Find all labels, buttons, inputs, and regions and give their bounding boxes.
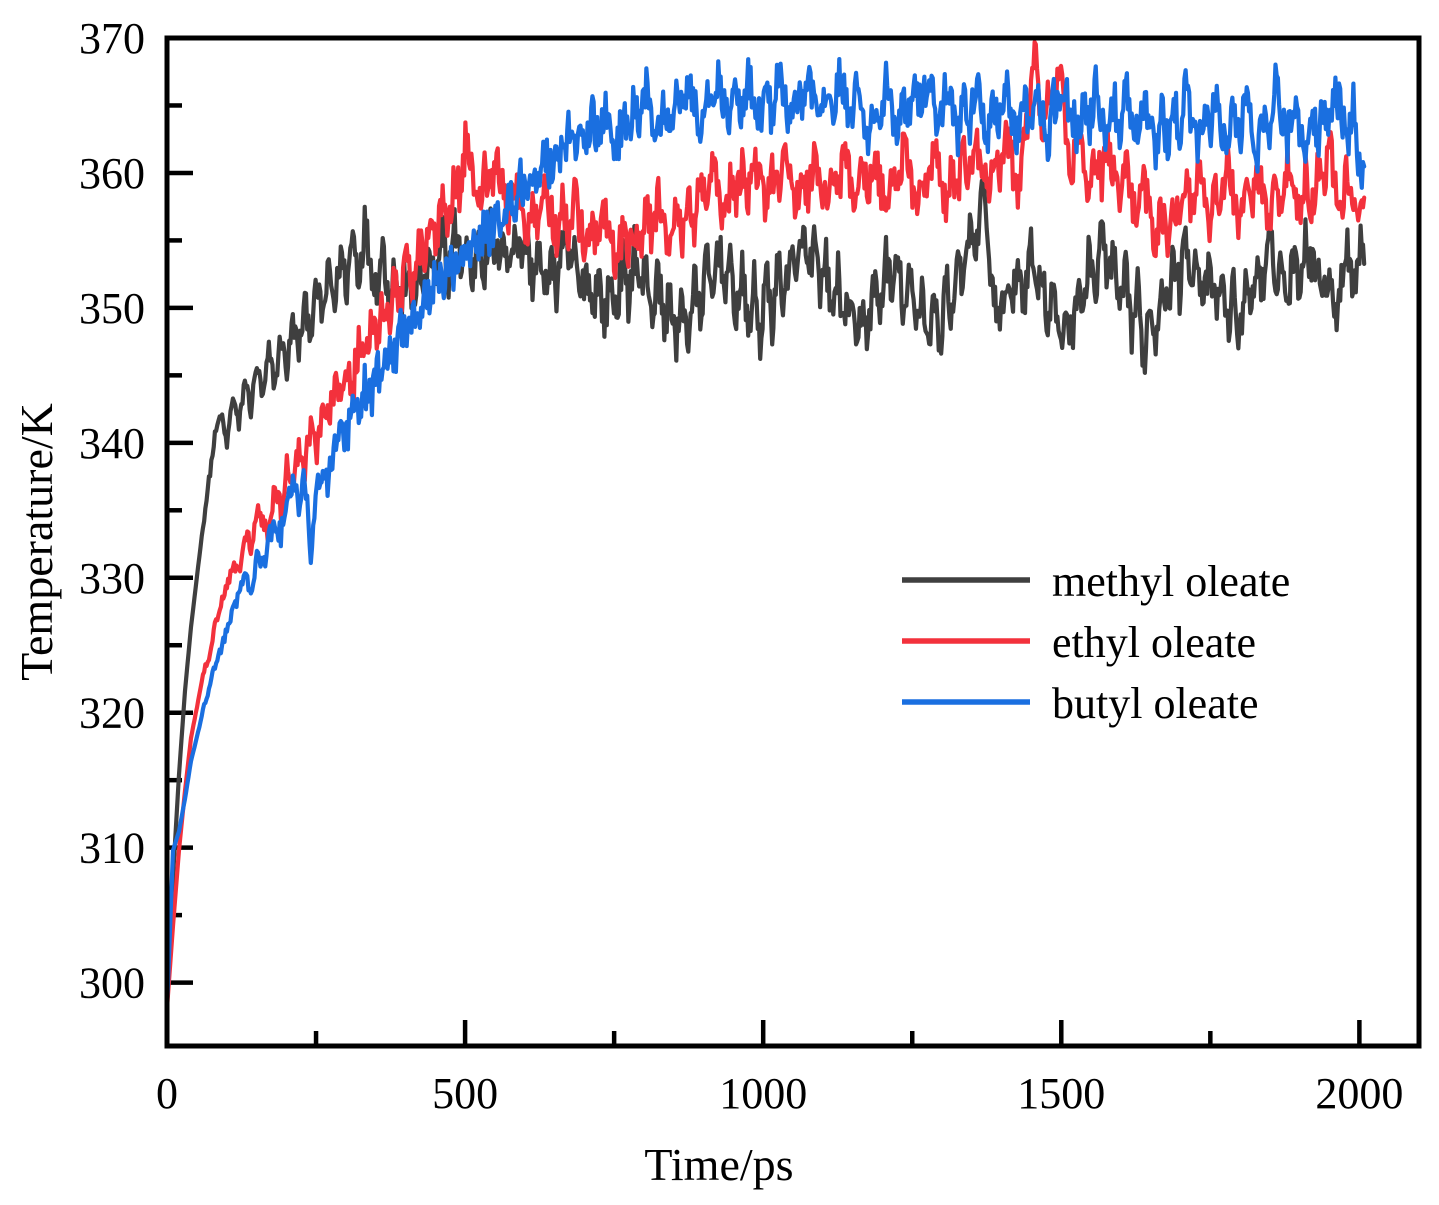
y-tick-label: 300 — [79, 959, 145, 1008]
legend-label: methyl oleate — [1052, 557, 1290, 606]
chart-legend: methyl oleateethyl oleatebutyl oleate — [902, 557, 1290, 728]
x-tick-label: 0 — [156, 1069, 178, 1118]
y-tick-label: 310 — [79, 824, 145, 873]
x-tick-label: 500 — [432, 1069, 498, 1118]
temperature-vs-time-chart: 300310320330340350360370 050010001500200… — [0, 0, 1439, 1205]
chart-figure: 300310320330340350360370 050010001500200… — [0, 0, 1439, 1205]
y-tick-label: 340 — [79, 419, 145, 468]
legend-label: butyl oleate — [1052, 679, 1259, 728]
x-tick-label: 1500 — [1017, 1069, 1105, 1118]
x-tick-label: 2000 — [1315, 1069, 1403, 1118]
y-tick-label: 320 — [79, 689, 145, 738]
y-axis-title: Temperature/K — [11, 403, 62, 681]
x-axis-title: Time/ps — [644, 1139, 793, 1190]
y-tick-label: 330 — [79, 554, 145, 603]
legend-label: ethyl oleate — [1052, 618, 1256, 667]
y-tick-label: 350 — [79, 284, 145, 333]
x-tick-label: 1000 — [719, 1069, 807, 1118]
y-tick-label: 370 — [79, 14, 145, 63]
y-tick-label: 360 — [79, 149, 145, 198]
